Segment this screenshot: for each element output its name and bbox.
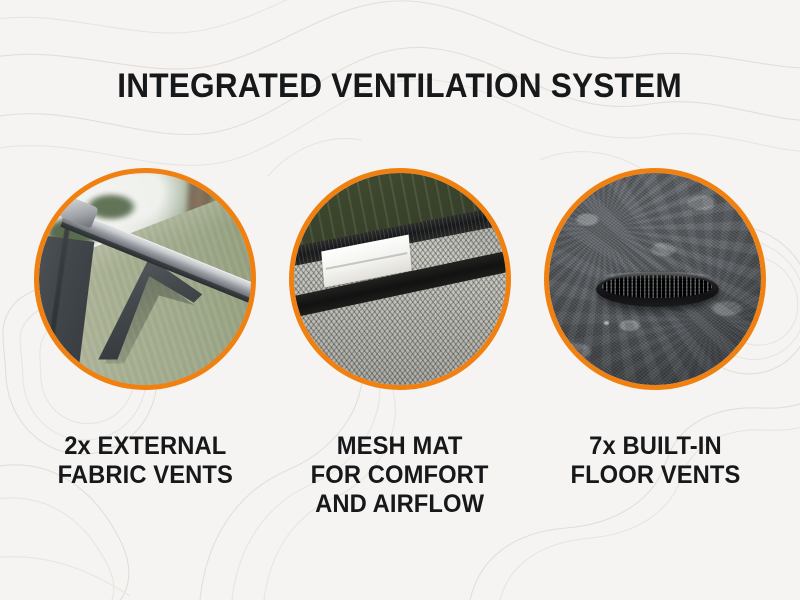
photo-mesh-mat bbox=[294, 173, 506, 385]
caption-line: 2x EXTERNAL bbox=[57, 432, 232, 461]
caption-line: 7x BUILT-IN bbox=[570, 432, 740, 461]
feature-built-in-floor-vents: 7x BUILT-IN FLOOR VENTS bbox=[544, 168, 766, 490]
photo-vignette bbox=[549, 173, 761, 385]
page-title: INTEGRATED VENTILATION SYSTEM bbox=[118, 67, 683, 105]
feature-list: 2x EXTERNAL FABRIC VENTS MESH MAT FOR CO… bbox=[0, 168, 800, 519]
caption-line: AND AIRFLOW bbox=[311, 490, 489, 519]
feature-image-mesh-mat bbox=[289, 168, 511, 390]
feature-mesh-mat: MESH MAT FOR COMFORT AND AIRFLOW bbox=[289, 168, 511, 519]
caption-line: FOR COMFORT bbox=[311, 461, 489, 490]
title-bar: INTEGRATED VENTILATION SYSTEM bbox=[0, 44, 800, 128]
photo-floor-vent bbox=[549, 173, 761, 385]
caption-external-fabric-vents: 2x EXTERNAL FABRIC VENTS bbox=[57, 432, 232, 490]
caption-mesh-mat: MESH MAT FOR COMFORT AND AIRFLOW bbox=[311, 432, 489, 519]
ventilation-infographic: INTEGRATED VENTILATION SYSTEM bbox=[0, 0, 800, 600]
feature-external-fabric-vents: 2x EXTERNAL FABRIC VENTS bbox=[34, 168, 256, 490]
feature-image-external-fabric-vents bbox=[34, 168, 256, 390]
feature-image-built-in-floor-vents bbox=[544, 168, 766, 390]
photo-external-fabric-vent bbox=[39, 173, 251, 385]
caption-built-in-floor-vents: 7x BUILT-IN FLOOR VENTS bbox=[570, 432, 740, 490]
caption-line: MESH MAT bbox=[311, 432, 489, 461]
caption-line: FABRIC VENTS bbox=[57, 461, 232, 490]
caption-line: FLOOR VENTS bbox=[570, 461, 740, 490]
